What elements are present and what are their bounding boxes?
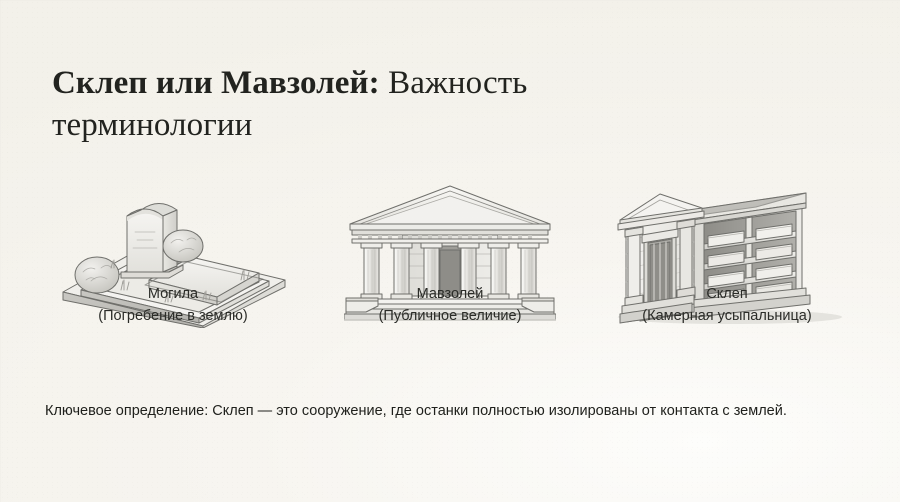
caption-mausoleum-title: Мавзолей xyxy=(417,286,484,302)
caption-grave-subtitle: (Погребение в землю) xyxy=(44,305,302,327)
caption-crypt: Склеп (Камерная усыпальница) xyxy=(598,283,856,328)
page-title-light: Важность xyxy=(380,65,528,101)
caption-grave-title: Могила xyxy=(148,286,198,302)
caption-row: Могила (Погребение в землю) Мавзолей (Пу… xyxy=(44,283,856,328)
caption-crypt-title: Склеп xyxy=(706,286,747,302)
key-definition-text: Ключевое определение: Склеп — это сооруж… xyxy=(45,400,857,423)
caption-crypt-subtitle: (Камерная усыпальница) xyxy=(598,305,856,327)
caption-mausoleum: Мавзолей (Публичное величие) xyxy=(321,283,579,328)
caption-mausoleum-subtitle: (Публичное величие) xyxy=(321,305,579,327)
page-title-bold: Склеп или Мавзолей: xyxy=(52,65,380,101)
caption-grave: Могила (Погребение в землю) xyxy=(44,283,302,328)
